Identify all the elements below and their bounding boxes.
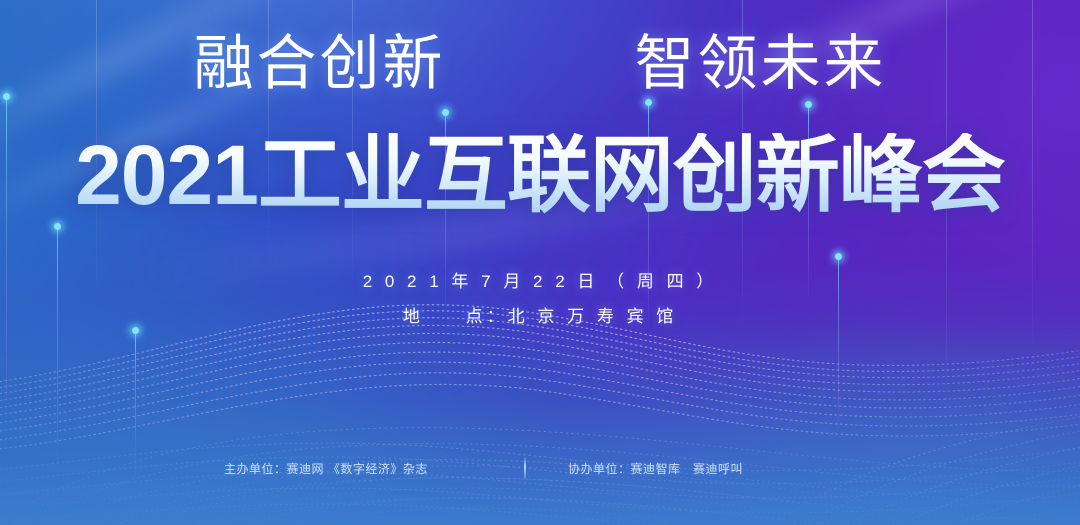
coorganizer-credit: 协办单位：赛迪智库 赛迪呼叫 bbox=[526, 460, 868, 477]
accent-dot-icon bbox=[54, 223, 61, 230]
poster-title: 2021工业互联网创新峰会 bbox=[0, 133, 1080, 217]
event-date: 2 0 2 1 年 7 月 2 2 日 （ 周 四 ） bbox=[0, 267, 1080, 292]
accent-dot-icon bbox=[835, 253, 842, 260]
accent-line bbox=[57, 226, 58, 476]
accent-dot-icon bbox=[132, 327, 139, 334]
accent-dot-icon bbox=[442, 109, 449, 116]
event-location: 地 点：北 京 万 寿 宾 馆 bbox=[0, 302, 1080, 327]
poster-footer: 主办单位：赛迪网 《数字经济》杂志 协办单位：赛迪智库 赛迪呼叫 bbox=[0, 457, 1080, 479]
organizer-credit: 主办单位：赛迪网 《数字经济》杂志 bbox=[212, 460, 524, 477]
accent-dot-icon bbox=[805, 101, 812, 108]
accent-dot-icon bbox=[645, 99, 652, 106]
conference-poster: 融合创新 智领未来 2021工业互联网创新峰会 2 0 2 1 年 7 月 2 … bbox=[0, 0, 1080, 525]
accent-dot-icon bbox=[3, 93, 10, 100]
poster-tagline: 融合创新 智领未来 bbox=[0, 34, 1080, 94]
